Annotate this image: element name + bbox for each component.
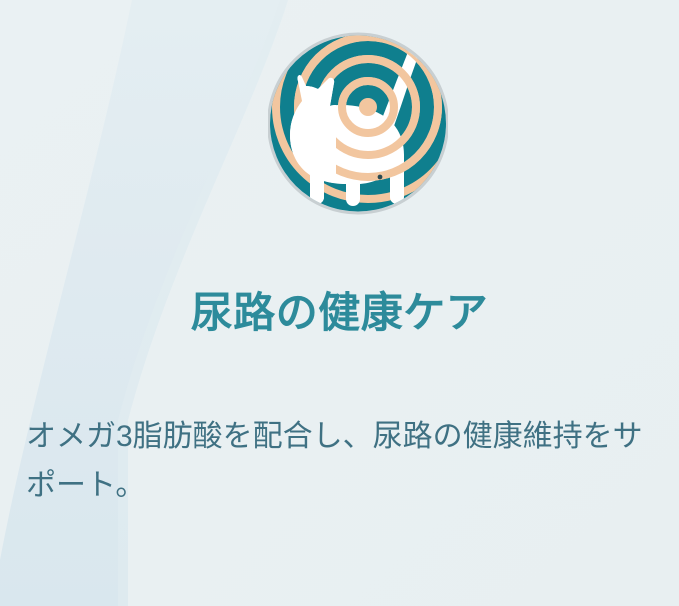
paw-dot [378, 175, 383, 180]
feature-title: 尿路の健康ケア [0, 286, 679, 340]
wave-center-dot [359, 98, 377, 116]
feature-card: 尿路の健康ケア オメガ3脂肪酸を配合し、尿路の健康維持をサポート。 [0, 0, 679, 606]
feature-description: オメガ3脂肪酸を配合し、尿路の健康維持をサポート。 [26, 413, 658, 510]
feature-icon [268, 25, 448, 222]
